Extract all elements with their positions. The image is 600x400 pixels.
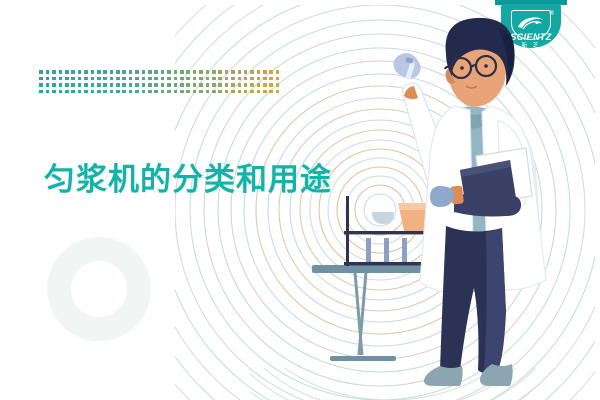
- dot-grid-cell: [154, 83, 158, 87]
- dot-grid-cell: [250, 83, 254, 87]
- dot-grid-cell: [65, 70, 69, 74]
- dot-grid-cell: [180, 83, 184, 87]
- dot-grid-cell: [257, 90, 261, 94]
- dot-grid-cell: [225, 77, 229, 81]
- dot-grid-cell: [148, 70, 152, 74]
- dot-grid-cell: [186, 90, 190, 94]
- dot-grid-cell: [142, 77, 146, 81]
- dot-grid-cell: [180, 90, 184, 94]
- dot-grid-cell: [78, 90, 82, 94]
- dot-grid-cell: [218, 70, 222, 74]
- dot-grid-cell: [174, 83, 178, 87]
- dot-grid-cell: [135, 90, 139, 94]
- shoes: [424, 364, 513, 386]
- dot-grid-cell: [174, 77, 178, 81]
- dot-grid-cell: [269, 70, 273, 74]
- dot-grid-cell: [193, 77, 197, 81]
- dot-grid-cell: [39, 83, 43, 87]
- dot-grid-cell: [91, 77, 95, 81]
- dot-grid-cell: [52, 83, 56, 87]
- dot-grid-cell: [161, 77, 165, 81]
- dot-grid-cell: [212, 70, 216, 74]
- dot-grid-cell: [193, 83, 197, 87]
- dot-grid-cell: [148, 77, 152, 81]
- dot-grid-cell: [142, 70, 146, 74]
- dot-grid-cell: [122, 90, 126, 94]
- dot-grid-cell: [71, 70, 75, 74]
- dot-grid-cell: [218, 90, 222, 94]
- dot-grid-cell: [91, 70, 95, 74]
- dot-grid-cell: [97, 83, 101, 87]
- dot-grid-cell: [199, 90, 203, 94]
- dot-grid-cell: [46, 83, 50, 87]
- dot-grid-cell: [39, 77, 43, 81]
- dot-grid-cell: [218, 83, 222, 87]
- dot-grid-cell: [244, 77, 248, 81]
- dot-grid-cell: [46, 77, 50, 81]
- dot-grid-cell: [91, 83, 95, 87]
- dot-grid-cell: [110, 70, 114, 74]
- dot-grid-cell: [161, 70, 165, 74]
- dot-grid-cell: [238, 90, 242, 94]
- dot-grid-cell: [148, 83, 152, 87]
- dot-grid-cell: [257, 83, 261, 87]
- dot-grid-cell: [244, 70, 248, 74]
- dot-grid-cell: [84, 70, 88, 74]
- dot-grid-cell: [97, 90, 101, 94]
- dot-grid-cell: [161, 83, 165, 87]
- dot-grid-cell: [174, 90, 178, 94]
- dot-grid-cell: [129, 83, 133, 87]
- dot-grid-cell: [167, 70, 171, 74]
- dot-grid-cell: [199, 70, 203, 74]
- dot-grid-cell: [238, 77, 242, 81]
- article-banner: 匀浆机的分类和用途 ® SCIENTZ 新 芝: [0, 0, 600, 400]
- dot-grid-cell: [110, 77, 114, 81]
- dot-grid-cell: [250, 77, 254, 81]
- dot-grid-cell: [39, 90, 43, 94]
- dot-grid-cell: [167, 77, 171, 81]
- dot-grid-decoration: [38, 69, 281, 95]
- dot-grid-cell: [206, 70, 210, 74]
- gloved-hand-with-vial: [393, 53, 420, 81]
- soft-ring-decoration: [47, 237, 151, 341]
- dot-grid-cell: [218, 77, 222, 81]
- dot-grid-cell: [206, 83, 210, 87]
- dot-grid-cell: [199, 83, 203, 87]
- dot-grid-cell: [91, 90, 95, 94]
- dot-grid-cell: [84, 77, 88, 81]
- dot-grid-cell: [142, 90, 146, 94]
- dot-grid-cell: [212, 90, 216, 94]
- dot-grid-cell: [135, 70, 139, 74]
- dot-grid-cell: [97, 77, 101, 81]
- dot-grid-cell: [231, 90, 235, 94]
- dot-grid-cell: [84, 83, 88, 87]
- dot-grid-cell: [78, 83, 82, 87]
- legs: [440, 226, 506, 374]
- dot-grid-cell: [225, 90, 229, 94]
- dot-grid-cell: [186, 77, 190, 81]
- dot-grid-cell: [78, 70, 82, 74]
- dot-grid-cell: [276, 77, 280, 81]
- dot-grid-cell: [212, 77, 216, 81]
- dot-grid-cell: [71, 83, 75, 87]
- dot-grid-cell: [97, 70, 101, 74]
- dot-grid-cell: [103, 70, 107, 74]
- dot-grid-cell: [231, 77, 235, 81]
- dot-grid-cell: [263, 90, 267, 94]
- dot-grid-cell: [231, 83, 235, 87]
- dot-grid-cell: [225, 83, 229, 87]
- dot-grid-cell: [59, 83, 63, 87]
- dot-grid-cell: [122, 70, 126, 74]
- dot-grid-cell: [269, 90, 273, 94]
- dot-grid-cell: [257, 70, 261, 74]
- dot-grid-cell: [263, 77, 267, 81]
- page-title: 匀浆机的分类和用途: [44, 154, 332, 199]
- dot-grid-cell: [122, 83, 126, 87]
- dot-grid-cell: [180, 70, 184, 74]
- dot-grid-cell: [116, 77, 120, 81]
- dot-grid-cell: [206, 90, 210, 94]
- dot-grid-cell: [250, 90, 254, 94]
- dot-grid-cell: [276, 70, 280, 74]
- dot-grid-cell: [231, 70, 235, 74]
- dot-grid-cell: [59, 90, 63, 94]
- dot-grid-cell: [116, 70, 120, 74]
- dot-grid-cell: [103, 77, 107, 81]
- dot-grid-cell: [52, 90, 56, 94]
- dot-grid-cell: [167, 90, 171, 94]
- dot-grid-cell: [65, 77, 69, 81]
- dot-grid-cell: [71, 90, 75, 94]
- dot-grid-cell: [122, 77, 126, 81]
- dot-grid-cell: [148, 90, 152, 94]
- dot-grid-cell: [154, 70, 158, 74]
- dot-grid-cell: [186, 70, 190, 74]
- dot-grid-cell: [206, 77, 210, 81]
- dot-grid-cell: [186, 83, 190, 87]
- dot-grid-cell: [135, 83, 139, 87]
- dot-grid-cell: [71, 77, 75, 81]
- dot-grid-cell: [154, 90, 158, 94]
- dot-grid-cell: [269, 77, 273, 81]
- dot-grid-cell: [225, 70, 229, 74]
- dot-grid-cell: [116, 83, 120, 87]
- dot-grid-cell: [257, 77, 261, 81]
- head: [445, 18, 515, 107]
- dot-grid-cell: [244, 90, 248, 94]
- dot-grid-cell: [65, 90, 69, 94]
- dot-grid-cell: [154, 77, 158, 81]
- dot-grid-cell: [193, 70, 197, 74]
- dot-grid-cell: [59, 70, 63, 74]
- dot-grid-cell: [276, 83, 280, 87]
- dot-grid-cell: [180, 77, 184, 81]
- dot-grid-cell: [129, 90, 133, 94]
- dot-grid-cell: [250, 70, 254, 74]
- dot-grid-cell: [276, 90, 280, 94]
- dot-grid-cell: [52, 77, 56, 81]
- eye-left: [460, 66, 464, 70]
- dot-grid-cell: [110, 83, 114, 87]
- dot-grid-cell: [46, 70, 50, 74]
- dot-grid-cell: [78, 77, 82, 81]
- dot-grid-cell: [212, 83, 216, 87]
- dot-grid-cell: [161, 90, 165, 94]
- dot-grid-cell: [238, 70, 242, 74]
- dot-grid-cell: [129, 70, 133, 74]
- dot-grid-cell: [39, 70, 43, 74]
- dot-grid-cell: [46, 90, 50, 94]
- dot-grid-cell: [244, 83, 248, 87]
- dot-grid-cell: [193, 90, 197, 94]
- scientist-illustration: [300, 0, 600, 400]
- dot-grid-cell: [142, 83, 146, 87]
- dot-grid-cell: [116, 90, 120, 94]
- dot-grid-cell: [238, 83, 242, 87]
- dot-grid-cell: [103, 83, 107, 87]
- dot-grid-cell: [199, 77, 203, 81]
- dot-grid-cell: [269, 83, 273, 87]
- dot-grid-cell: [84, 90, 88, 94]
- eye-right: [484, 64, 488, 68]
- dot-grid-cell: [52, 70, 56, 74]
- dot-grid-cell: [174, 70, 178, 74]
- dot-grid-cell: [167, 83, 171, 87]
- dot-grid-cell: [59, 77, 63, 81]
- dot-grid-cell: [263, 70, 267, 74]
- dot-grid-cell: [65, 83, 69, 87]
- dot-grid-cell: [103, 90, 107, 94]
- dot-grid-cell: [129, 77, 133, 81]
- dot-grid-cell: [135, 77, 139, 81]
- dot-grid-cell: [110, 90, 114, 94]
- dot-grid-cell: [263, 83, 267, 87]
